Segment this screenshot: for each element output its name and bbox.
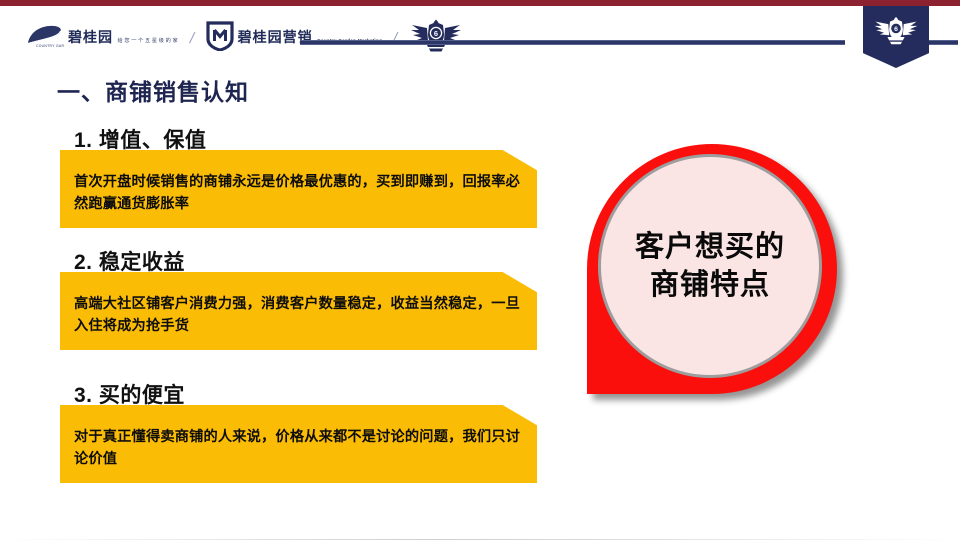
content-block-3-heading: 3. 买的便宜 <box>74 379 185 409</box>
content-block-1-heading: 1. 增值、保值 <box>74 124 206 154</box>
callout-line-1: 客户想买的 <box>635 228 785 266</box>
callout-circle: 客户想买的 商铺特点 <box>587 144 859 396</box>
logo-country-garden-name: 碧桂园 <box>68 29 113 45</box>
logo-country-garden-tagline: 给您一个五星级的家 <box>117 38 179 44</box>
logo-row: COUNTRY GARDEN 碧桂园 给您一个五星级的家 / <box>24 18 464 58</box>
header-shield-banner: 6 <box>863 6 929 68</box>
page-title: 一、商铺销售认知 <box>57 73 249 107</box>
logo-separator-1: / <box>189 30 197 47</box>
slide-header: COUNTRY GARDEN 碧桂园 给您一个五星级的家 / <box>0 6 960 64</box>
logo-country-garden-marketing: 碧桂园营销 Country Garden Marketing <box>206 21 383 56</box>
header-rule-long <box>300 40 845 45</box>
content-block-2-heading: 2. 稳定收益 <box>74 246 185 276</box>
country-garden-swoosh-icon: COUNTRY GARDEN <box>24 23 64 54</box>
logo-winged-badge: 6 <box>408 19 464 58</box>
content-block-2-body: 高端大社区铺客户消费力强，消费客户数量稳定，收益当然稳定，一旦入住将成为抢手货 <box>74 294 522 337</box>
svg-text:6: 6 <box>894 26 898 33</box>
slide-canvas: COUNTRY GARDEN 碧桂园 给您一个五星级的家 / <box>0 0 960 540</box>
content-block-3-body: 对于真正懂得卖商铺的人来说，价格从来都不是讨论的问题，我们只讨论价值 <box>74 427 522 470</box>
country-garden-marketing-shield-icon <box>206 21 234 56</box>
winged-badge-emblem-icon: 6 <box>872 16 920 51</box>
svg-text:COUNTRY GARDEN: COUNTRY GARDEN <box>36 44 64 48</box>
svg-text:6: 6 <box>434 29 438 38</box>
logo-country-garden: COUNTRY GARDEN 碧桂园 给您一个五星级的家 <box>24 23 179 54</box>
content-block-1-body: 首次开盘时候销售的商铺永远是价格最优惠的，买到即赚到，回报率必然跑赢通货膨胀率 <box>74 172 522 215</box>
logo-country-garden-text: 碧桂园 给您一个五星级的家 <box>68 30 179 47</box>
callout-inner-circle: 客户想买的 商铺特点 <box>598 154 822 378</box>
winged-badge-emblem-icon: 6 <box>408 19 464 58</box>
callout-line-2: 商铺特点 <box>650 266 770 304</box>
